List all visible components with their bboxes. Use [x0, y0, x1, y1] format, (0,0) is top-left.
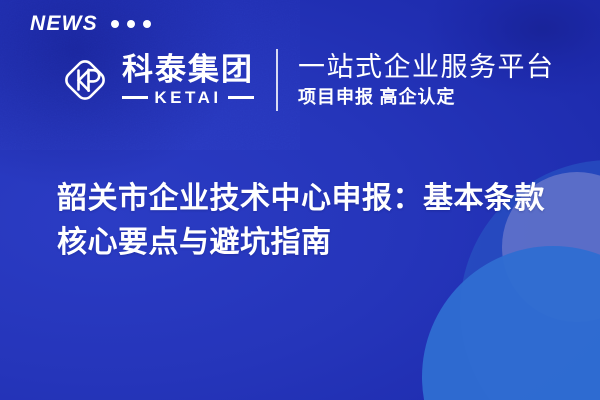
- brand-logo[interactable]: 科泰集团 KETAI: [57, 52, 254, 108]
- news-dots-icon: [111, 20, 151, 28]
- brand-tagline: 一站式企业服务平台 项目申报 高企认定: [298, 52, 555, 109]
- brand-logo-text: 科泰集团 KETAI: [122, 54, 254, 105]
- brand-name-en-row: KETAI: [122, 89, 254, 106]
- page-title: 韶关市企业技术中心申报：基本条款核心要点与避坑指南: [57, 177, 557, 265]
- brand-name-en: KETAI: [154, 89, 221, 106]
- dot-icon: [143, 20, 151, 28]
- news-banner: NEWS 科泰集团: [0, 0, 600, 400]
- dot-icon: [111, 20, 119, 28]
- ketai-diamond-monogram-icon: [57, 52, 113, 108]
- tagline-sub: 项目申报 高企认定: [298, 86, 555, 109]
- brand-name-cn: 科泰集团: [122, 54, 254, 86]
- news-label: NEWS: [30, 13, 98, 34]
- dot-icon: [127, 20, 135, 28]
- brand-header: 科泰集团 KETAI 一站式企业服务平台 项目申报 高企认定: [57, 44, 570, 116]
- tagline-main: 一站式企业服务平台: [298, 52, 555, 83]
- news-badge: NEWS: [30, 13, 151, 34]
- rule-left: [122, 96, 148, 99]
- header-divider: [276, 49, 278, 111]
- rule-right: [228, 96, 254, 99]
